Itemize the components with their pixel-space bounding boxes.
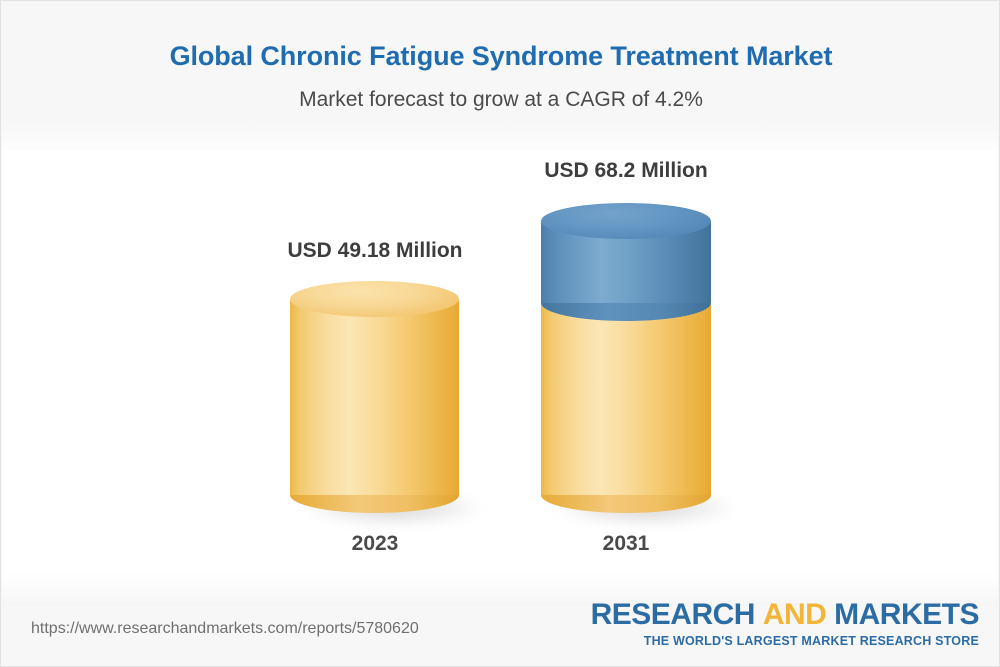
bar-value-label-2031: USD 68.2 Million [496,159,756,183]
bar-category-label-2031: 2031 [496,532,756,556]
cylinder-body [290,299,459,495]
logo-word-and: AND [763,598,827,631]
logo-tagline: THE WORLD'S LARGEST MARKET RESEARCH STOR… [591,634,979,648]
bar-segment-base [290,281,459,513]
logo-wordmark: RESEARCH AND MARKETS [591,600,979,630]
chart-footer: https://www.researchandmarkets.com/repor… [1,586,1000,666]
logo-word-research: RESEARCH [591,598,755,631]
cylinder-body [541,303,711,495]
bar-category-label-2023: 2023 [245,532,505,556]
source-url-link[interactable]: https://www.researchandmarkets.com/repor… [31,620,419,638]
bar-segment-growth [541,203,711,321]
bar-2023[interactable] [290,281,459,513]
bar-2031[interactable] [541,203,711,513]
chart-plot-area: USD 49.18 Million 2023 USD 68.2 Million [1,1,1000,667]
chart-infographic: Global Chronic Fatigue Syndrome Treatmen… [0,0,1000,667]
logo-word-markets: MARKETS [834,598,979,631]
cylinder-top-ellipse [541,203,711,239]
research-and-markets-logo[interactable]: RESEARCH AND MARKETS THE WORLD'S LARGEST… [591,600,979,648]
bar-value-label-2023: USD 49.18 Million [245,239,505,263]
cylinder-top-ellipse [290,281,459,317]
